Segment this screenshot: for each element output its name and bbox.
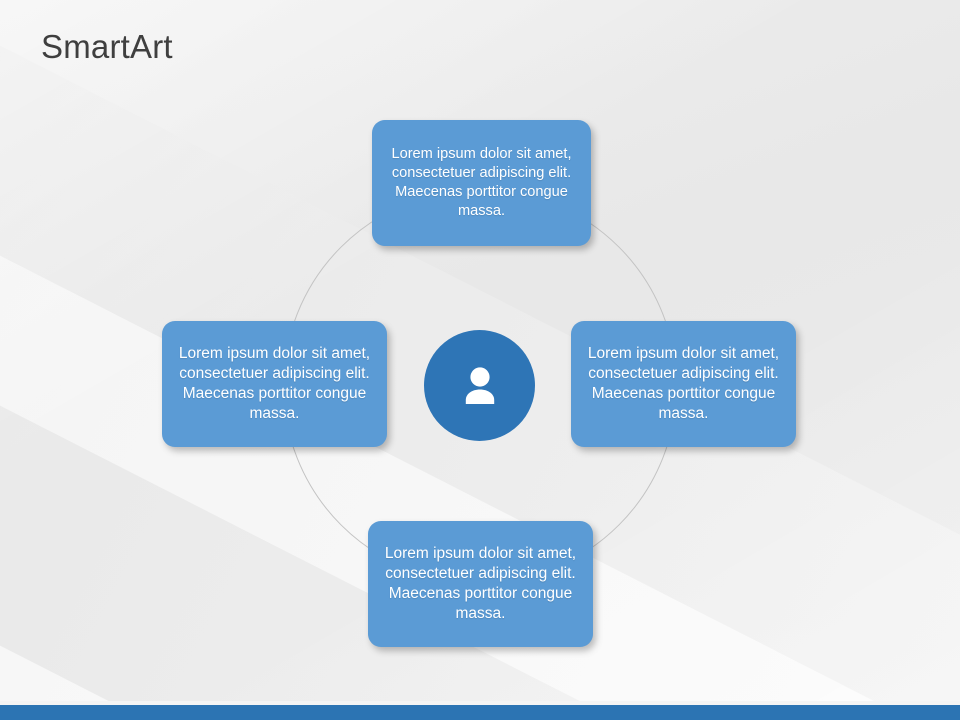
- cycle-node-top[interactable]: Lorem ipsum dolor sit amet, consectetuer…: [372, 120, 591, 246]
- cycle-node-left-text: Lorem ipsum dolor sit amet, consectetuer…: [176, 344, 373, 424]
- footer-accent-bar: [0, 705, 960, 720]
- cycle-node-top-text: Lorem ipsum dolor sit amet, consectetuer…: [386, 145, 577, 221]
- cycle-node-right[interactable]: Lorem ipsum dolor sit amet, consectetuer…: [571, 321, 796, 447]
- person-icon: [455, 361, 505, 411]
- slide-canvas: SmartArt Lorem ipsum dolor sit amet, con…: [0, 0, 960, 720]
- cycle-node-left[interactable]: Lorem ipsum dolor sit amet, consectetuer…: [162, 321, 387, 447]
- center-hub[interactable]: [424, 330, 535, 441]
- page-title: SmartArt: [41, 28, 173, 66]
- cycle-node-bottom-text: Lorem ipsum dolor sit amet, consectetuer…: [382, 544, 579, 624]
- cycle-node-right-text: Lorem ipsum dolor sit amet, consectetuer…: [585, 344, 782, 424]
- cycle-node-bottom[interactable]: Lorem ipsum dolor sit amet, consectetuer…: [368, 521, 593, 647]
